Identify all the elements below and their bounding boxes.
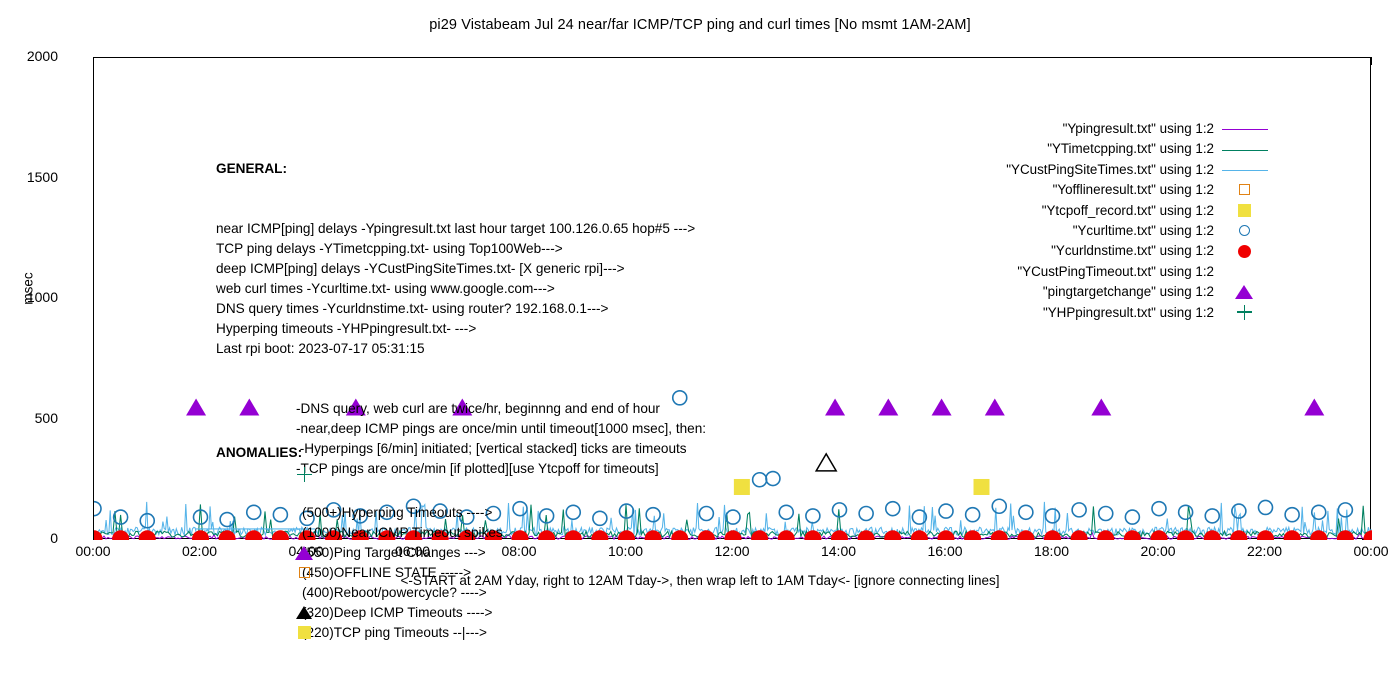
- data-point-triangle-filled: [932, 398, 952, 415]
- data-point-triangle-filled: [985, 398, 1005, 415]
- legend-row: "Ytcpoff_record.txt" using 1:2: [1006, 201, 1276, 221]
- anomaly-row: (550)Ping Target Changes --->: [216, 543, 503, 563]
- anomaly-row: (220)TCP ping Timeouts --|--->: [216, 623, 503, 643]
- data-point-circle-open: [886, 502, 900, 516]
- annotation-line: near ICMP[ping] delays -Ypingresult.txt …: [216, 219, 706, 239]
- anomalies-heading: ANOMALIES:: [216, 443, 503, 463]
- legend-marker-square-filled-icon: [1214, 201, 1276, 221]
- x-tick-label: 00:00: [1353, 543, 1388, 559]
- anomaly-label: (500+)Hyperping Timeouts ---->: [302, 505, 492, 520]
- data-point-circle-open: [1259, 500, 1273, 514]
- legend-row: "Ycurltime.txt" using 1:2: [1006, 221, 1276, 241]
- legend-marker-triangle-open-icon: [1214, 262, 1276, 282]
- annotation-line: deep ICMP[ping] delays -YCustPingSiteTim…: [216, 259, 706, 279]
- data-point-circle-filled: [1257, 530, 1274, 540]
- data-point-circle-open: [1046, 509, 1060, 523]
- legend-label: "Ycurltime.txt" using 1:2: [1073, 221, 1214, 241]
- legend-row: "Yofflineresult.txt" using 1:2: [1006, 180, 1276, 200]
- x-tick-label: 18:00: [1034, 543, 1069, 559]
- data-point-circle-open: [859, 506, 873, 520]
- anomaly-label: (320)Deep ICMP Timeouts ---->: [302, 605, 493, 620]
- data-point-circle-filled: [1284, 530, 1301, 540]
- legend-row: "YHPpingresult.txt" using 1:2: [1006, 303, 1276, 323]
- y-tick-label: 1500: [0, 169, 58, 185]
- legend-label: "Ypingresult.txt" using 1:2: [1063, 119, 1214, 139]
- data-point-circle-filled: [192, 530, 209, 540]
- data-point-triangle-filled: [825, 398, 845, 415]
- data-point-triangle-filled: [1304, 398, 1324, 415]
- data-point-triangle-filled: [186, 398, 206, 415]
- x-tick-label: 14:00: [821, 543, 856, 559]
- data-point-circle-open: [1019, 505, 1033, 519]
- legend-label: "YCustPingTimeout.txt" using 1:2: [1017, 262, 1214, 282]
- legend-marker-square-open-icon: [1214, 180, 1276, 200]
- legend-label: "Ycurldnstime.txt" using 1:2: [1051, 241, 1214, 261]
- legend-row: "Ypingresult.txt" using 1:2: [1006, 119, 1276, 139]
- data-point-circle-filled: [139, 530, 156, 540]
- data-point-circle-open: [1205, 509, 1219, 523]
- chart-legend: "Ypingresult.txt" using 1:2"YTimetcpping…: [1006, 119, 1276, 323]
- y-tick-label: 0: [0, 530, 58, 546]
- legend-marker-circle-open-icon: [1214, 221, 1276, 241]
- data-point-circle-open: [94, 502, 101, 516]
- data-point-circle-open: [806, 509, 820, 523]
- data-point-circle-filled: [778, 530, 795, 540]
- annotation-line: web curl times -Ycurltime.txt- using www…: [216, 279, 706, 299]
- x-tick-label: 20:00: [1140, 543, 1175, 559]
- anomaly-label: (1000)Near ICMP Timeout spikes: [302, 525, 503, 540]
- annotation-line: DNS query times -Ycurldnstime.txt- using…: [216, 299, 706, 319]
- anomaly-row: (500+)Hyperping Timeouts ---->: [216, 503, 503, 523]
- data-point-circle-open: [966, 508, 980, 522]
- data-point-circle-filled: [1017, 530, 1034, 540]
- data-point-circle-filled: [698, 530, 715, 540]
- legend-row: "YCustPingTimeout.txt" using 1:2: [1006, 262, 1276, 282]
- data-point-circle-open: [779, 505, 793, 519]
- data-point-circle-filled: [671, 530, 688, 540]
- data-point-square-filled: [974, 479, 990, 495]
- annotation-line: Last rpi boot: 2023-07-17 05:31:15: [216, 339, 706, 359]
- data-point-circle-open: [1152, 502, 1166, 516]
- x-tick-label: 02:00: [182, 543, 217, 559]
- y-tick-label: 500: [0, 410, 58, 426]
- legend-label: "YCustPingSiteTimes.txt" using 1:2: [1006, 160, 1214, 180]
- data-point-circle-open: [766, 472, 780, 486]
- data-point-circle-open: [1072, 503, 1086, 517]
- data-point-circle-open: [912, 510, 926, 524]
- data-point-circle-filled: [1310, 530, 1327, 540]
- x-tick-label: 22:00: [1247, 543, 1282, 559]
- anomaly-row: (320)Deep ICMP Timeouts ---->: [216, 603, 503, 623]
- x-tick-label: 00:00: [75, 543, 110, 559]
- anomaly-marker-square-filled-icon: [274, 623, 298, 643]
- plot-area: GENERAL: near ICMP[ping] delays -Ypingre…: [93, 57, 1371, 539]
- legend-marker-line-icon: [1214, 139, 1276, 159]
- legend-row: "pingtargetchange" using 1:2: [1006, 282, 1276, 302]
- legend-row: "YTimetcpping.txt" using 1:2: [1006, 139, 1276, 159]
- data-point-circle-open: [992, 499, 1006, 513]
- data-point-circle-open: [753, 473, 767, 487]
- anomaly-row: (1000)Near ICMP Timeout spikes: [216, 523, 503, 543]
- anomaly-label: (550)Ping Target Changes --->: [302, 545, 486, 560]
- chart-page: pi29 Vistabeam Jul 24 near/far ICMP/TCP …: [0, 0, 1400, 600]
- legend-label: "Ytcpoff_record.txt" using 1:2: [1042, 201, 1214, 221]
- series-points-ytcpoff-record-txt: [734, 479, 990, 495]
- chart-title: pi29 Vistabeam Jul 24 near/far ICMP/TCP …: [0, 17, 1400, 33]
- data-point-circle-filled: [1071, 530, 1088, 540]
- legend-marker-line-icon: [1214, 160, 1276, 180]
- x-tick-label: 16:00: [927, 543, 962, 559]
- x-tick-label: 12:00: [714, 543, 749, 559]
- data-point-triangle-filled: [1091, 398, 1111, 415]
- annotation-line: Hyperping timeouts -YHPpingresult.txt- -…: [216, 319, 706, 339]
- data-point-circle-open: [1312, 505, 1326, 519]
- legend-row: "YCustPingSiteTimes.txt" using 1:2: [1006, 160, 1276, 180]
- legend-marker-triangle-filled-icon: [1214, 282, 1276, 302]
- general-heading: GENERAL:: [216, 159, 706, 179]
- data-point-circle-open: [1099, 506, 1113, 520]
- data-point-circle-open: [1179, 505, 1193, 519]
- data-point-circle-open: [1285, 508, 1299, 522]
- anomalies-annotation-block: ANOMALIES: (500+)Hyperping Timeouts ----…: [216, 403, 503, 683]
- data-point-square-filled: [734, 479, 750, 495]
- y-tick-label: 2000: [0, 48, 58, 64]
- data-point-circle-open: [939, 504, 953, 518]
- data-point-circle-open: [726, 510, 740, 524]
- data-point-circle-filled: [538, 530, 555, 540]
- legend-label: "YTimetcpping.txt" using 1:2: [1047, 139, 1214, 159]
- data-point-circle-filled: [1044, 530, 1061, 540]
- data-point-circle-filled: [1097, 530, 1114, 540]
- series-points-ycustpingtimeout-txt: [816, 454, 836, 471]
- anomaly-label: (220)TCP ping Timeouts --|--->: [302, 625, 487, 640]
- y-tick-label: 1000: [0, 289, 58, 305]
- legend-marker-circle-filled-icon: [1214, 241, 1276, 261]
- data-point-triangle-open: [816, 454, 836, 471]
- legend-label: "pingtargetchange" using 1:2: [1043, 282, 1214, 302]
- data-point-triangle-filled: [878, 398, 898, 415]
- legend-label: "Yofflineresult.txt" using 1:2: [1053, 180, 1214, 200]
- legend-row: "Ycurldnstime.txt" using 1:2: [1006, 241, 1276, 261]
- legend-marker-line-icon: [1214, 119, 1276, 139]
- anomaly-marker-triangle-open-icon: [274, 603, 298, 623]
- legend-marker-cross-icon: [1214, 303, 1276, 323]
- data-point-circle-open: [1125, 510, 1139, 524]
- x-tick-label: 08:00: [501, 543, 536, 559]
- x-axis-caption: <-START at 2AM Yday, right to 12AM Tday-…: [0, 573, 1400, 588]
- anomaly-marker-triangle-filled-icon: [274, 543, 298, 563]
- data-point-circle-open: [1338, 503, 1352, 517]
- annotation-line: TCP ping delays -YTimetcpping.txt- using…: [216, 239, 706, 259]
- x-tick-label: 10:00: [608, 543, 643, 559]
- anomaly-marker-cross-icon: [274, 465, 298, 485]
- legend-label: "YHPpingresult.txt" using 1:2: [1043, 303, 1214, 323]
- general-lines: near ICMP[ping] delays -Ypingresult.txt …: [216, 219, 706, 359]
